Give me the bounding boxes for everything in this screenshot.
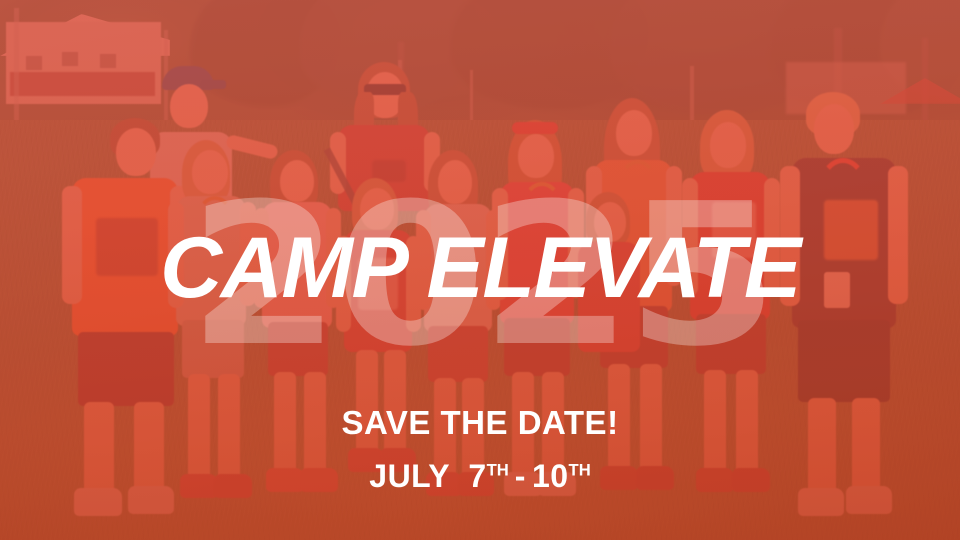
date-separator: -	[509, 458, 532, 494]
date-end-day: 10	[532, 458, 569, 494]
page-title: CAMP ELEVATE	[0, 225, 960, 311]
date-start-suffix: TH	[487, 460, 509, 479]
date-start-day: 7	[468, 458, 486, 494]
date-month: JULY	[369, 458, 449, 494]
camp-date-text: JULY 7TH-10TH	[0, 458, 960, 495]
save-the-date-text: SAVE THE DATE!	[0, 404, 960, 442]
camp-promo-poster: 2025 CAMP ELEVATE SAVE THE DATE! JULY 7T…	[0, 0, 960, 540]
date-end-suffix: TH	[569, 460, 591, 479]
